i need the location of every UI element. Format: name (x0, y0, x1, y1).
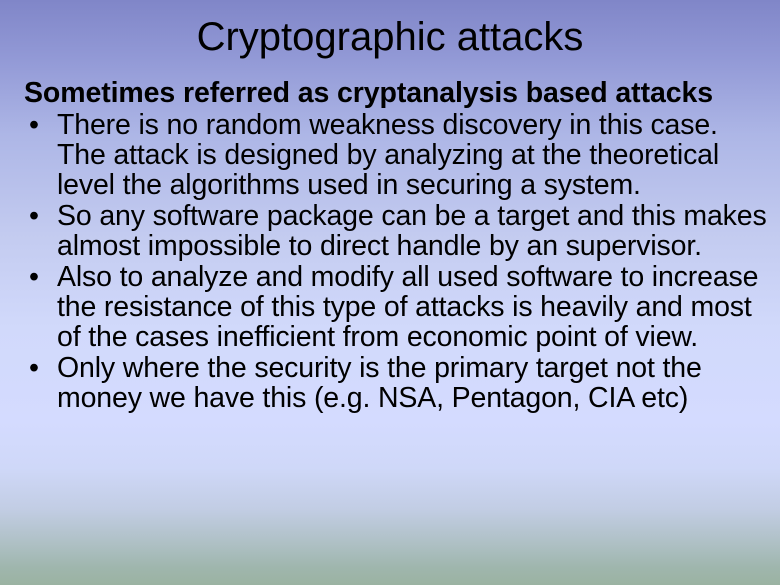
list-item-text: Also to analyze and modify all used soft… (57, 262, 770, 352)
list-item: • Only where the security is the primary… (24, 353, 770, 413)
bullet-icon: • (29, 201, 39, 231)
list-item: • There is no random weakness discovery … (24, 110, 770, 200)
list-item: • Also to analyze and modify all used so… (24, 262, 770, 352)
list-item-text: So any software package can be a target … (57, 201, 770, 261)
bullet-icon: • (29, 262, 39, 292)
page-title: Cryptographic attacks (0, 0, 780, 60)
bullet-icon: • (29, 353, 39, 383)
list-item: • So any software package can be a targe… (24, 201, 770, 261)
list-item-text: Only where the security is the primary t… (57, 353, 770, 413)
list-item-text: There is no random weakness discovery in… (57, 110, 770, 200)
bullet-icon: • (29, 110, 39, 140)
presentation-slide: Cryptographic attacks Sometimes referred… (0, 0, 780, 585)
slide-body: Sometimes referred as cryptanalysis base… (24, 78, 770, 414)
lead-paragraph: Sometimes referred as cryptanalysis base… (24, 78, 770, 108)
